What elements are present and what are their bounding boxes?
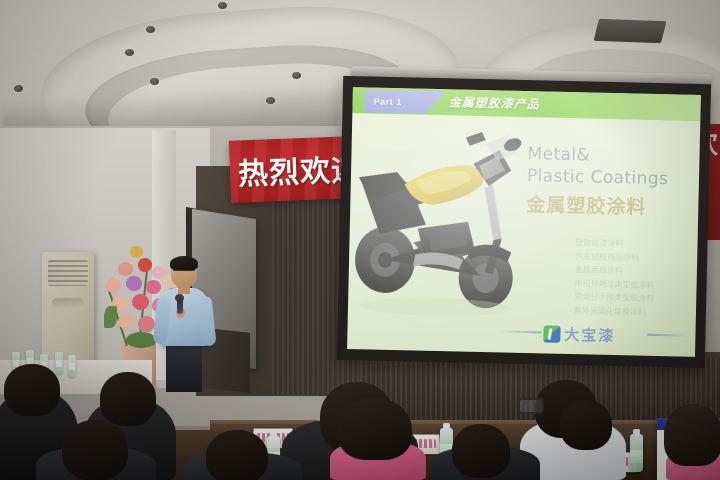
slide-header-fade: [544, 91, 701, 121]
flower-petal: [118, 262, 133, 276]
audience-head: [62, 420, 128, 480]
flower-petal: [146, 280, 161, 294]
bottle-label: [630, 450, 643, 463]
taiho-logo-icon: [543, 325, 560, 342]
presenter-trousers: [166, 340, 202, 392]
microphone-head: [175, 294, 184, 302]
flower-petal: [118, 314, 134, 329]
projection-screen: Part 1 金属塑胶漆产品: [337, 72, 713, 370]
flower-petal: [106, 278, 121, 293]
audience-head: [100, 372, 156, 426]
slide-title-cn: 金属塑胶涂料: [526, 190, 697, 221]
motorcycle-photo: [354, 123, 534, 319]
audience-head-long-hair: [664, 404, 720, 466]
flower-petal: [132, 294, 149, 310]
flower-petal: [126, 276, 142, 291]
presentation-slide: Part 1 金属塑胶漆产品: [347, 87, 701, 357]
slide-part-label: Part 1: [374, 96, 402, 107]
audience-head: [560, 400, 612, 450]
ac-grille: [48, 260, 88, 286]
audience-head: [452, 424, 510, 478]
slide-section-title: 金属塑胶漆产品: [448, 93, 539, 112]
bottle-cap: [633, 429, 640, 435]
slide-title-en-line2: Plastic Coatings: [527, 165, 697, 191]
screen-border: Part 1 金属塑胶漆产品: [337, 76, 711, 368]
presenter-glasses: [173, 270, 195, 275]
ceiling-spotlight: [14, 85, 23, 92]
glasses-icon: [518, 398, 544, 414]
slide-bullet-list: 塑胶底漆涂料 汽车塑胶用品涂料 金属面底涂料 单组分烤漆类型胶涂料 双组分手擦类…: [534, 235, 701, 320]
slide-logo-rule-right: [647, 334, 689, 337]
ceiling-spotlight: [146, 26, 155, 33]
water-bottle: [55, 352, 63, 374]
flower-leaf: [104, 306, 117, 328]
slide-logo-rule-left: [497, 330, 541, 333]
flower-petal: [138, 316, 155, 332]
water-bottle: [68, 355, 76, 377]
slide-title-block: Metal& Plastic Coatings 金属塑胶涂料: [526, 143, 698, 221]
flower-leaf: [126, 332, 156, 348]
ceiling-spotlight: [150, 78, 159, 85]
flower-petal: [138, 258, 152, 272]
photo-scene: 热烈欢迎 欢 Part 1 金属塑胶漆产品: [0, 0, 720, 480]
ceiling-spotlight: [125, 49, 134, 56]
list-item: 紫外光固化型胶涂料: [574, 304, 701, 321]
ceiling-spotlight: [292, 72, 301, 79]
bottle-cap: [443, 423, 450, 429]
audience-head: [206, 430, 268, 480]
slide-brand-name: 大宝漆: [564, 324, 615, 346]
audience-head: [4, 364, 60, 416]
slide-brand-logo: 大宝漆: [543, 323, 615, 346]
presenter-hair: [170, 256, 198, 271]
water-bottle: [630, 434, 643, 472]
audience-head-long-hair: [338, 398, 412, 460]
ac-badge: [52, 298, 84, 308]
flower-petal: [130, 246, 143, 258]
ceiling-spotlight: [218, 2, 227, 9]
bottle-cap: [270, 431, 277, 437]
ceiling-vent: [594, 19, 667, 43]
